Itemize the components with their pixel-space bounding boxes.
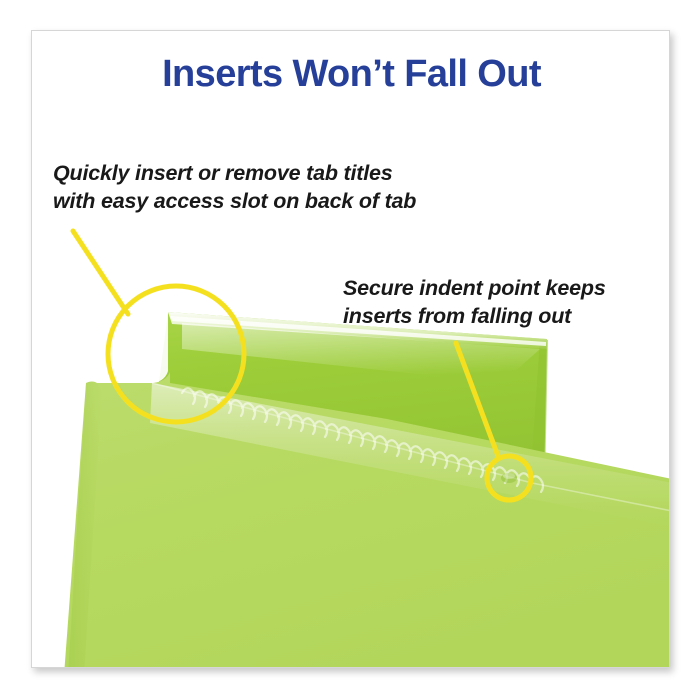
- screenshot-root: Inserts Won’t Fall Out Quickly insert or…: [0, 0, 700, 700]
- page-title: Inserts Won’t Fall Out: [32, 53, 670, 96]
- callout-text-access-slot: Quickly insert or remove tab titles with…: [53, 159, 416, 215]
- product-feature-card: Inserts Won’t Fall Out Quickly insert or…: [31, 30, 670, 668]
- product-photo: [32, 31, 670, 668]
- callout-text-indent-point-line2: inserts from falling out: [343, 302, 606, 330]
- callout-text-access-slot-line1: Quickly insert or remove tab titles: [53, 159, 416, 187]
- callout-text-indent-point-line1: Secure indent point keeps: [343, 274, 606, 302]
- callout-text-indent-point: Secure indent point keeps inserts from f…: [343, 274, 606, 330]
- callout-text-access-slot-line2: with easy access slot on back of tab: [53, 187, 416, 215]
